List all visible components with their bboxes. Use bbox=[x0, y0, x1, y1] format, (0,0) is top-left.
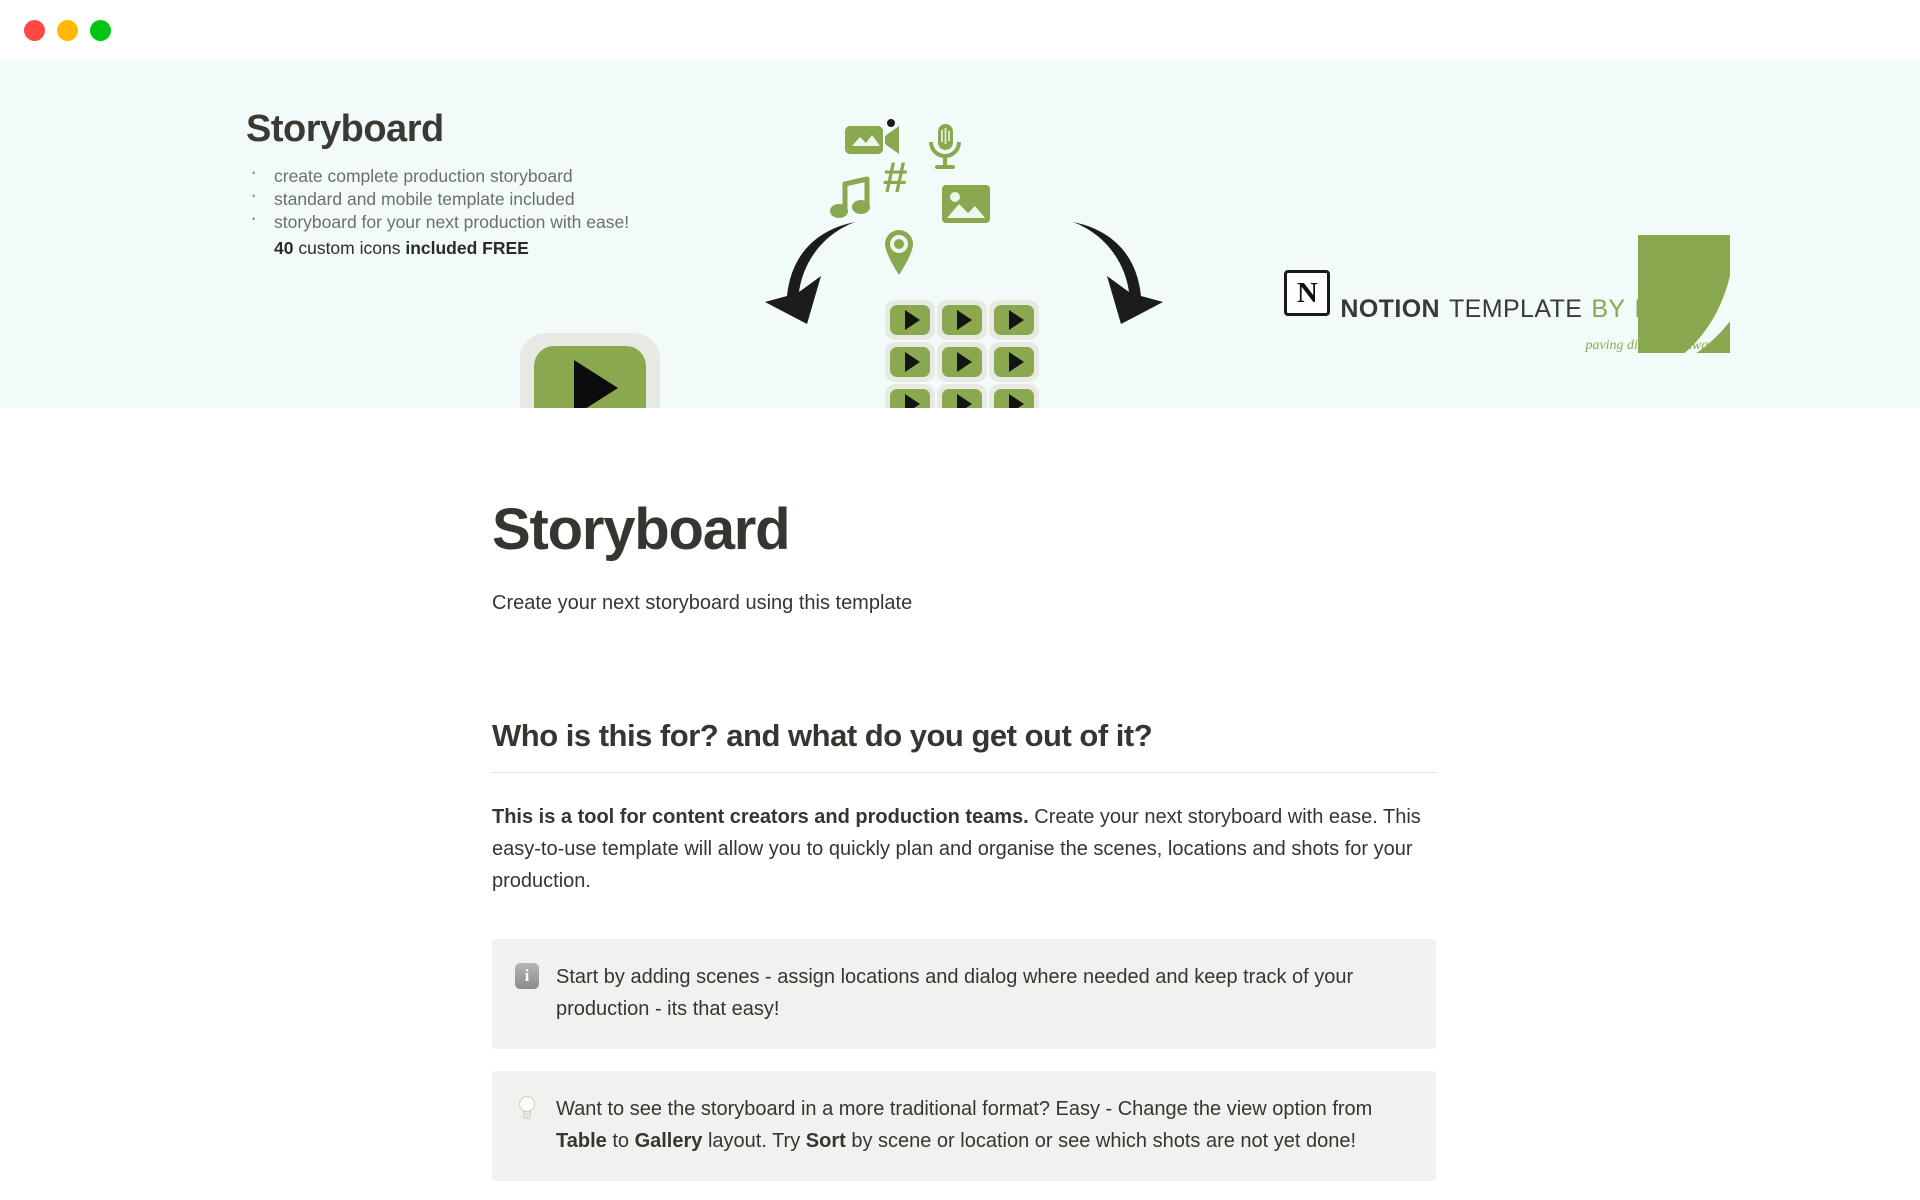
play-icon bbox=[957, 310, 972, 330]
svg-text:#: # bbox=[883, 158, 907, 200]
brand-word-template: TEMPLATE bbox=[1449, 295, 1582, 324]
play-grid-cell bbox=[937, 384, 987, 408]
page-subtitle[interactable]: Create your next storyboard using this t… bbox=[492, 588, 1436, 618]
play-grid-cell bbox=[885, 300, 935, 340]
window-close-button[interactable] bbox=[24, 20, 45, 41]
intro-bold-lead: This is a tool for content creators and … bbox=[492, 806, 1029, 828]
play-grid-cell bbox=[937, 342, 987, 382]
document-body: Storyboard Create your next storyboard u… bbox=[492, 498, 1436, 1181]
brand-lockup: N NOTION TEMPLATE BY LANE25 paving digit… bbox=[1284, 270, 1730, 346]
tip-text-4: by scene or location or see which shots … bbox=[846, 1130, 1356, 1152]
play-icon bbox=[957, 394, 972, 408]
play-grid-cell bbox=[885, 384, 935, 408]
window-titlebar bbox=[0, 0, 1920, 60]
section-divider bbox=[492, 772, 1436, 773]
video-camera-icon bbox=[843, 118, 903, 160]
play-icon bbox=[957, 352, 972, 372]
arrow-down-right-icon bbox=[1055, 220, 1165, 330]
brand-tagline: paving digital pathways bbox=[1585, 338, 1720, 354]
arrow-down-left-icon bbox=[763, 220, 873, 330]
play-grid-cell bbox=[989, 384, 1039, 408]
play-icon bbox=[1009, 310, 1024, 330]
cover-feature-list: create complete production storyboard st… bbox=[246, 165, 726, 260]
play-icon bbox=[1009, 394, 1024, 408]
brand-word-by: BY bbox=[1591, 295, 1625, 324]
play-icon bbox=[905, 352, 920, 372]
list-item: create complete production storyboard bbox=[246, 165, 726, 188]
cover-banner: Storyboard create complete production st… bbox=[0, 60, 1920, 408]
location-pin-icon bbox=[883, 228, 915, 276]
lightbulb-icon bbox=[516, 1095, 538, 1121]
lane25-path-mark-icon bbox=[1638, 235, 1730, 353]
cover-free-icons-line: 40 custom icons included FREE bbox=[246, 237, 726, 260]
play-grid-cell bbox=[885, 342, 935, 382]
section-heading[interactable]: Who is this for? and what do you get out… bbox=[492, 718, 1436, 754]
callout-info[interactable]: i Start by adding scenes - assign locati… bbox=[492, 939, 1436, 1049]
brand-word-notion: NOTION bbox=[1340, 295, 1440, 324]
tip-bold-gallery: Gallery bbox=[635, 1130, 703, 1152]
hashtag-icon: # bbox=[883, 158, 927, 200]
play-grid-cell bbox=[937, 300, 987, 340]
tip-text-3: layout. Try bbox=[702, 1130, 805, 1152]
free-icon-mid: custom icons bbox=[293, 238, 405, 258]
info-icon: i bbox=[515, 963, 539, 989]
play-grid-cell bbox=[989, 342, 1039, 382]
callout-tip-text: Want to see the storyboard in a more tra… bbox=[556, 1093, 1410, 1157]
list-item: standard and mobile template included bbox=[246, 188, 726, 211]
intro-paragraph[interactable]: This is a tool for content creators and … bbox=[492, 801, 1436, 897]
play-grid-cell bbox=[989, 300, 1039, 340]
cover-title: Storyboard bbox=[246, 108, 726, 151]
page-icon[interactable] bbox=[520, 333, 660, 408]
play-button-icon bbox=[574, 360, 618, 408]
page-title[interactable]: Storyboard bbox=[492, 498, 1436, 562]
callout-info-text: Start by adding scenes - assign location… bbox=[556, 961, 1410, 1025]
tip-bold-sort: Sort bbox=[806, 1130, 846, 1152]
tip-text-2: to bbox=[607, 1130, 635, 1152]
page-content: Storyboard Create your next storyboard u… bbox=[0, 408, 1920, 1181]
free-icon-bold: included FREE bbox=[405, 238, 528, 258]
notion-cube-icon: N bbox=[1284, 270, 1330, 316]
play-icon bbox=[1009, 352, 1024, 372]
play-button-grid bbox=[885, 300, 1039, 408]
callout-icon-wrap bbox=[514, 1095, 540, 1121]
tip-text-1: Want to see the storyboard in a more tra… bbox=[556, 1098, 1372, 1120]
music-note-icon bbox=[829, 176, 873, 218]
microphone-icon bbox=[925, 122, 965, 170]
list-item: storyboard for your next production with… bbox=[246, 211, 726, 234]
window-maximize-button[interactable] bbox=[90, 20, 111, 41]
play-icon bbox=[905, 394, 920, 408]
tip-bold-table: Table bbox=[556, 1130, 607, 1152]
callout-tip[interactable]: Want to see the storyboard in a more tra… bbox=[492, 1071, 1436, 1181]
play-icon bbox=[905, 310, 920, 330]
window-minimize-button[interactable] bbox=[57, 20, 78, 41]
free-icon-count: 40 bbox=[274, 238, 293, 258]
image-icon bbox=[941, 184, 991, 224]
cover-text-block: Storyboard create complete production st… bbox=[246, 108, 726, 260]
cover-illustration: # bbox=[815, 118, 1115, 408]
callout-icon-wrap: i bbox=[514, 963, 540, 989]
